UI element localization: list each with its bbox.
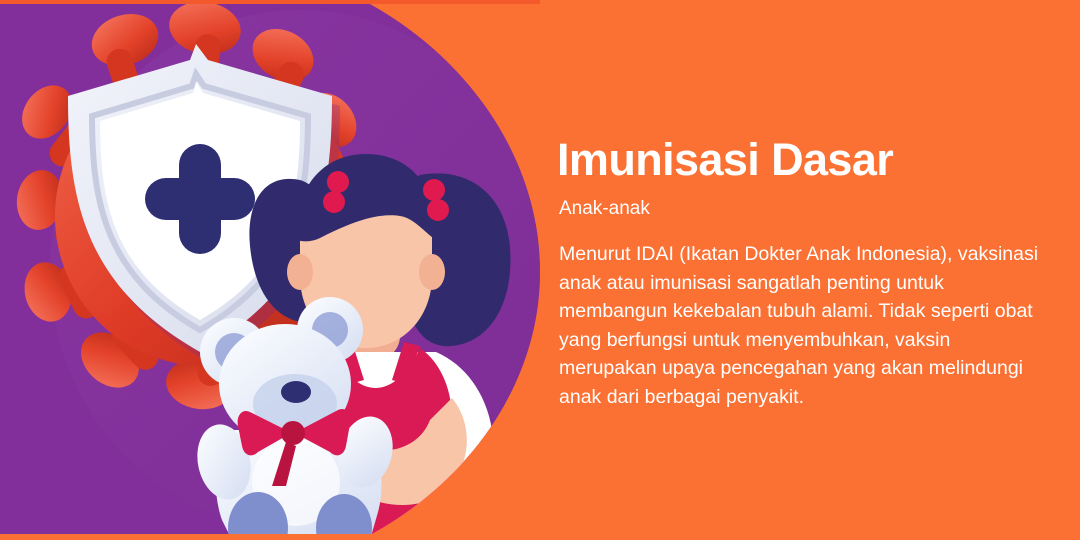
top-accent-strip bbox=[0, 0, 540, 4]
bear-nose bbox=[281, 381, 311, 403]
illustration-artwork bbox=[0, 0, 560, 540]
body-paragraph: Menurut IDAI (Ikatan Dokter Anak Indones… bbox=[559, 240, 1051, 411]
body-paragraph-text: Menurut IDAI (Ikatan Dokter Anak Indones… bbox=[559, 240, 1051, 411]
page-subtitle: Anak-anak bbox=[559, 198, 650, 221]
promo-banner: Imunisasi Dasar Anak-anak Menurut IDAI (… bbox=[0, 0, 1080, 540]
bottom-accent-strip bbox=[0, 534, 540, 540]
text-column: Imunisasi Dasar Anak-anak Menurut IDAI (… bbox=[557, 0, 1057, 540]
page-title: Imunisasi Dasar bbox=[557, 136, 893, 183]
